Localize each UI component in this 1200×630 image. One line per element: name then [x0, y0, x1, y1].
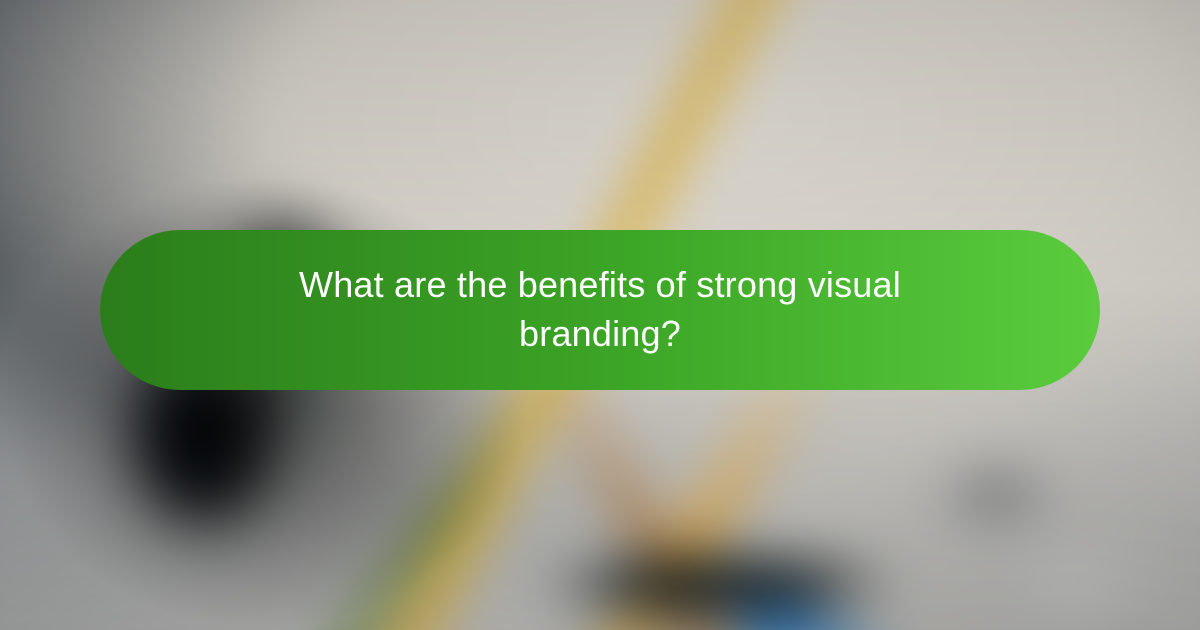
dot-grid-top-right-decoration: [900, 0, 1200, 230]
headline-title: What are the benefits of strong visual b…: [240, 261, 960, 359]
headline-banner: What are the benefits of strong visual b…: [100, 230, 1100, 390]
screenshot-canvas: What are the benefits of strong visual b…: [0, 0, 1200, 630]
dot-grid-bottom-left-decoration: [0, 400, 300, 630]
